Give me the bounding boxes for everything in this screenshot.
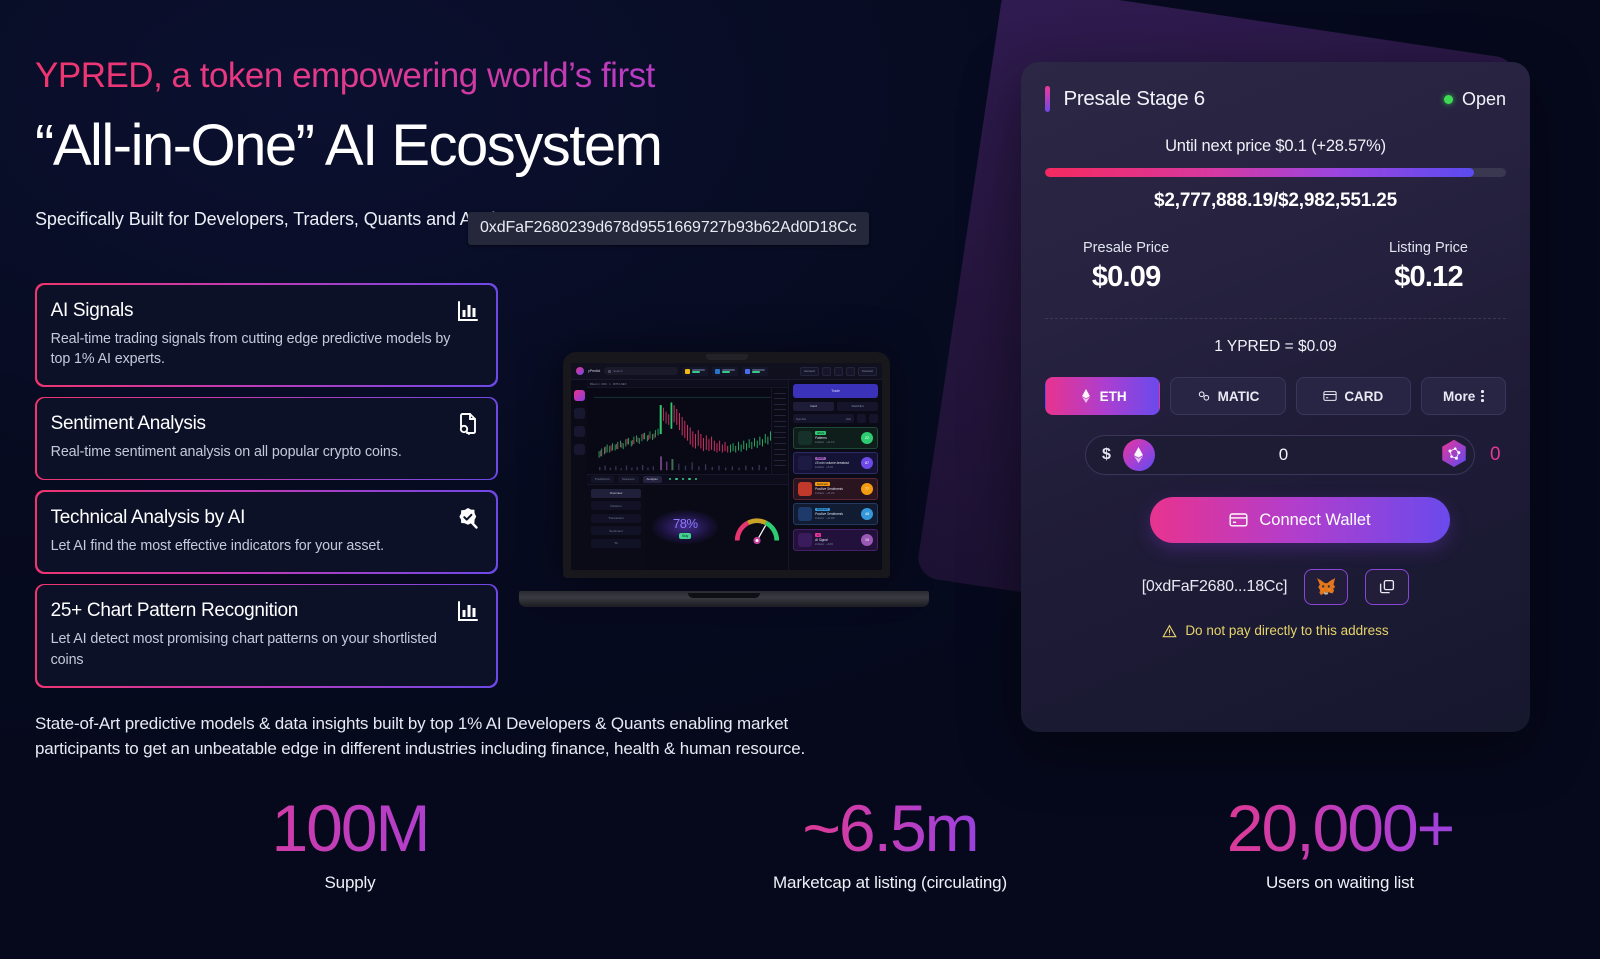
divider	[1045, 318, 1506, 319]
menu-item-patterns[interactable]: Patterns	[591, 501, 641, 510]
filter-icon[interactable]	[869, 414, 878, 423]
list-item[interactable]: MACD 15 min volume breakout Indicator · …	[793, 452, 878, 474]
laptop-lid: yPredict Search	[563, 352, 890, 578]
connect-wallet-label: Connect Wallet	[1259, 511, 1370, 530]
stat-caption: Marketcap at listing (circulating)	[700, 873, 1080, 893]
wallet-icon	[1229, 512, 1248, 528]
amount-input-group[interactable]: $	[1085, 435, 1475, 475]
stat-caption: Users on waiting list	[1080, 873, 1600, 893]
contract-address-tooltip: 0xdFaF2680239d678d9551669727b93b62Ad0D18…	[468, 212, 869, 245]
stat-value: ~6.5m	[700, 795, 1080, 861]
list-item[interactable]: Altcoin Patterns Indicator · +21.1% 22	[793, 427, 878, 449]
signal-tag: Sentiment	[815, 508, 830, 512]
presale-stage-label: Presale Stage 6	[1064, 87, 1205, 111]
search-icon	[608, 370, 611, 373]
listing-price-label: Listing Price	[1389, 240, 1468, 256]
legend-entry	[695, 478, 698, 481]
hero-text-block: YPRED, a token empowering world’s first …	[35, 56, 935, 230]
connect-button[interactable]: Connect	[858, 367, 877, 376]
signal-sub: Indicator · +6.6%	[815, 543, 858, 546]
amount-entry-row: $	[1085, 435, 1506, 475]
presale-price-block: Presale Price $0.09	[1083, 240, 1169, 294]
ethereum-icon	[1079, 389, 1093, 403]
feature-description: Let AI find the most effective indicator…	[51, 536, 451, 556]
page-root: YPRED, a token empowering world’s first …	[0, 0, 1600, 959]
ypred-token-icon	[1438, 439, 1470, 471]
analysis-tabs: Predictions Scanners Analysis	[587, 474, 788, 485]
signal-tag: AI	[815, 533, 821, 537]
chart-toolbar: Bitcoin / USD · 1 · BITFLNEX	[587, 380, 788, 388]
tab-analysis[interactable]: Analysis	[643, 476, 662, 483]
warning-text: Do not pay directly to this address	[1185, 623, 1388, 638]
sentiment-gauge	[731, 507, 783, 547]
presale-price-value: $0.09	[1083, 261, 1169, 294]
search-placeholder: Search	[613, 369, 623, 373]
dashboard-sidebar	[571, 380, 587, 570]
amount-input[interactable]	[1155, 445, 1438, 465]
chevron-down-icon[interactable]	[857, 414, 866, 423]
symbol-filter-row: Symbol (All)	[793, 414, 878, 423]
next-price-label: Until next price $0.1 (+28.57%)	[1045, 137, 1506, 156]
legend-entry	[669, 478, 672, 481]
payment-method-label: CARD	[1344, 389, 1383, 404]
panel-tabs: Card Watchlist	[793, 402, 878, 411]
score-section: 78% Buy	[645, 485, 788, 571]
list-item[interactable]: Sentiment Positive Sentiments Indicator …	[793, 503, 878, 525]
payment-method-label: ETH	[1100, 389, 1127, 404]
signal-name: Patterns	[815, 436, 858, 440]
stat-value: 20,000+	[1080, 795, 1600, 861]
signal-sub: Indicator · +21.1%	[815, 441, 858, 444]
stat-marketcap: ~6.5m Marketcap at listing (circulating)	[700, 795, 1080, 893]
accent-bar	[1045, 86, 1050, 112]
credit-card-icon	[1323, 389, 1337, 403]
trade-button[interactable]: Trade	[793, 384, 878, 398]
dashboard-logo-icon	[576, 367, 584, 375]
bar-chart-icon	[456, 299, 480, 323]
toolbar-icon[interactable]	[822, 367, 831, 376]
kebab-menu-icon	[1481, 390, 1484, 402]
sidebar-item-settings[interactable]	[574, 444, 585, 455]
polygon-icon	[1197, 389, 1211, 403]
chart-legend	[669, 478, 698, 481]
feature-card-list: AI Signals Real-time trading signals fro…	[35, 283, 498, 698]
payment-method-label: MATIC	[1218, 389, 1260, 404]
feature-card-technical-analysis[interactable]: Technical Analysis by AI Let AI find the…	[35, 490, 498, 573]
feature-card-sentiment-analysis[interactable]: Sentiment Analysis Real-time sentiment a…	[35, 397, 498, 480]
copy-address-button[interactable]	[1365, 569, 1409, 605]
copy-icon	[1378, 578, 1396, 596]
amount-raised-label: $2,777,888.19/$2,982,551.25	[1045, 190, 1506, 212]
ticker-pill	[682, 367, 708, 376]
list-item[interactable]: AI AI Signal Indicator · +6.6% 19	[793, 529, 878, 551]
toolbar-icon[interactable]	[846, 367, 855, 376]
stats-row: 100M Supply ~6.5m Marketcap at listing (…	[0, 795, 1600, 893]
score-ring: 78% Buy	[650, 507, 720, 547]
metamask-fox-icon	[1315, 577, 1337, 597]
signal-thumbnail	[798, 431, 812, 445]
hero-eyebrow: YPRED, a token empowering world’s first	[35, 56, 935, 96]
feature-title: AI Signals	[51, 300, 479, 322]
feature-title: 25+ Chart Pattern Recognition	[51, 600, 479, 622]
chart-price-axis	[771, 388, 788, 474]
menu-item-sentiment[interactable]: Sentiment	[591, 526, 641, 535]
payment-method-eth[interactable]: ETH	[1045, 377, 1160, 415]
stat-users: 20,000+ Users on waiting list	[1080, 795, 1600, 893]
feature-description: Let AI detect most promising chart patte…	[51, 629, 451, 670]
legend-entry	[682, 478, 685, 481]
feature-title: Sentiment Analysis	[51, 413, 479, 435]
signal-sub: Indicator · +8.2%	[815, 466, 858, 469]
dashboard-topbar-right: Account Connect	[800, 367, 877, 376]
tab-card[interactable]: Card	[793, 402, 834, 411]
payment-method-matic[interactable]: MATIC	[1170, 377, 1285, 415]
stat-caption: Supply	[0, 873, 700, 893]
dashboard-screen: yPredict Search	[571, 363, 882, 570]
dashboard-main: Bitcoin / USD · 1 · BITFLNEX	[587, 380, 788, 570]
badge-check-icon	[456, 506, 480, 530]
menu-item-overview[interactable]: Overview	[591, 489, 641, 498]
feature-card-ai-signals[interactable]: AI Signals Real-time trading signals fro…	[35, 283, 498, 387]
tab-watchlist[interactable]: Watchlist	[837, 402, 878, 411]
signal-tag: Altcoin	[815, 431, 826, 435]
payment-method-tabs: ETH MATIC CARD	[1045, 377, 1506, 415]
signal-score: 22	[861, 432, 873, 444]
signal-score: 48	[861, 508, 873, 520]
ethereum-coin-icon	[1123, 439, 1155, 471]
signal-thumbnail	[798, 482, 812, 496]
signal-sub: Indicator · +14.0%	[815, 517, 858, 520]
signals-panel: Trade Card Watchlist Symbol (All)	[788, 380, 882, 570]
laptop-camera-notch	[706, 354, 748, 360]
signal-sub: Indicator · +31.4%	[815, 492, 858, 495]
dashboard-search-input[interactable]: Search	[604, 367, 678, 375]
wallet-address-row: [0xdFaF2680...18Cc]	[1045, 569, 1506, 605]
ticker-pill	[712, 367, 738, 376]
listing-price-value: $0.12	[1389, 261, 1468, 294]
payment-warning: Do not pay directly to this address	[1045, 623, 1506, 638]
signal-name: Positive Sentiments	[815, 512, 858, 516]
analysis-menu: Overview Patterns Transaction Sentiment …	[587, 485, 645, 571]
presale-header: Presale Stage 6 Open	[1045, 86, 1506, 112]
sidebar-item-analytics[interactable]	[574, 408, 585, 419]
status-dot-icon	[1444, 95, 1453, 104]
payment-method-more[interactable]: More	[1421, 377, 1506, 415]
converted-amount: 0	[1490, 444, 1506, 466]
page-title: “All-in-One” AI Ecosystem	[35, 116, 935, 177]
legend-entry	[688, 478, 691, 481]
symbol-select[interactable]: Symbol (All)	[793, 414, 854, 423]
signal-score: 77	[861, 483, 873, 495]
signal-thumbnail	[798, 507, 812, 521]
score-badge: Buy	[679, 533, 691, 539]
signal-name: AI Signal	[815, 538, 858, 542]
dashboard-brand: yPredict	[588, 369, 600, 373]
token-rate-label: 1 YPRED = $0.09	[1045, 338, 1506, 356]
document-search-icon	[456, 412, 480, 436]
signal-name: 15 min volume breakout	[815, 461, 858, 465]
laptop-base-notch	[688, 593, 760, 598]
signal-thumbnail	[798, 533, 812, 547]
currency-symbol: $	[1102, 446, 1111, 464]
hero-paragraph: State-of-Art predictive models & data in…	[35, 711, 845, 761]
signal-tag: Sentiment	[815, 482, 830, 486]
add-to-metamask-button[interactable]	[1304, 569, 1348, 605]
chart-symbol-label: Bitcoin / USD · 1 · BITFLNEX	[590, 382, 627, 386]
bar-chart-icon	[456, 599, 480, 623]
listing-price-block: Listing Price $0.12	[1389, 240, 1468, 294]
account-button[interactable]: Account	[800, 367, 819, 376]
warning-triangle-icon	[1162, 624, 1177, 638]
sidebar-item-dashboard[interactable]	[574, 390, 585, 401]
list-item[interactable]: Sentiment Positive Sentiments Indicator …	[793, 478, 878, 500]
menu-item-ta[interactable]: TA	[591, 539, 641, 548]
payment-method-card[interactable]: CARD	[1296, 377, 1411, 415]
status-badge: Open	[1444, 89, 1506, 110]
laptop-product-mockup: yPredict Search	[519, 352, 929, 607]
presale-widget: Presale Stage 6 Open Until next price $0…	[1021, 62, 1530, 732]
signal-thumbnail	[798, 456, 812, 470]
feature-title: Technical Analysis by AI	[51, 507, 479, 529]
signal-score: 87	[861, 457, 873, 469]
signal-name: Positive Sentiments	[815, 487, 858, 491]
price-comparison: Presale Price $0.09 Listing Price $0.12	[1045, 240, 1506, 294]
feature-card-chart-pattern-recognition[interactable]: 25+ Chart Pattern Recognition Let AI det…	[35, 584, 498, 688]
presale-progress-bar	[1045, 168, 1506, 177]
feature-description: Real-time trading signals from cutting e…	[51, 329, 451, 370]
analysis-lower-panel: Overview Patterns Transaction Sentiment …	[587, 485, 788, 571]
presale-price-label: Presale Price	[1083, 240, 1169, 256]
tab-scanners[interactable]: Scanners	[618, 476, 639, 483]
connect-wallet-button[interactable]: Connect Wallet	[1150, 497, 1450, 543]
menu-item-transaction[interactable]: Transaction	[591, 514, 641, 523]
tab-predictions[interactable]: Predictions	[591, 476, 614, 483]
feature-description: Real-time sentiment analysis on all popu…	[51, 442, 451, 462]
legend-entry	[675, 478, 678, 481]
score-percent: 78%	[673, 516, 698, 531]
payment-method-label: More	[1443, 389, 1475, 404]
candlestick-chart	[587, 388, 788, 474]
progress-fill	[1045, 168, 1474, 177]
stat-value: 100M	[0, 795, 700, 861]
signal-score: 19	[861, 534, 873, 546]
stat-supply: 100M Supply	[0, 795, 700, 893]
toolbar-icon[interactable]	[834, 367, 843, 376]
dashboard-topbar: yPredict Search	[571, 363, 882, 380]
sidebar-item-signals[interactable]	[574, 426, 585, 437]
dashboard-body: Bitcoin / USD · 1 · BITFLNEX	[571, 380, 882, 570]
ticker-pill	[742, 367, 768, 376]
wallet-address-short: [0xdFaF2680...18Cc]	[1142, 578, 1288, 596]
signal-tag: MACD	[815, 457, 826, 461]
status-label: Open	[1462, 89, 1506, 110]
